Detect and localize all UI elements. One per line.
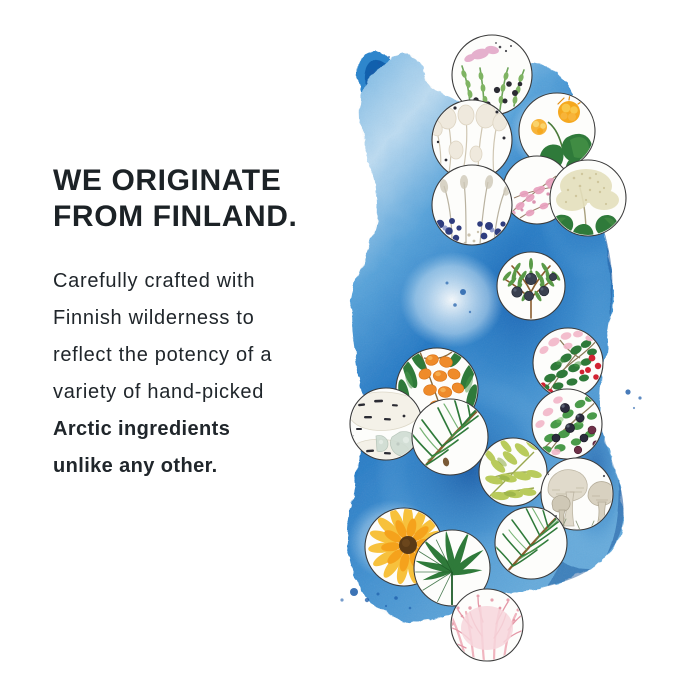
body-line-6: unlike any other. [53,448,353,485]
body-line-5: Arctic ingredients [53,411,353,448]
body-line-4: variety of hand-picked [53,374,353,411]
watercolor-map-of-finland [330,14,679,674]
body-line-1: Carefully crafted with [53,263,353,300]
body-paragraph: Carefully crafted with Finnish wildernes… [53,263,353,485]
page-title: WE ORIGINATE FROM FINLAND. [53,163,353,235]
headline-line-2: FROM FINLAND. [53,199,353,235]
poster-canvas: WE ORIGINATE FROM FINLAND. Carefully cra… [0,0,679,679]
body-line-3: reflect the potency of a [53,337,353,374]
circle-juniper [497,252,565,320]
body-line-2: Finnish wilderness to [53,300,353,337]
circle-bilberry-crowberry [532,389,602,459]
copy-block: WE ORIGINATE FROM FINLAND. Carefully cra… [53,163,353,485]
headline-line-1: WE ORIGINATE [53,163,353,199]
circle-lingonberry [533,328,603,398]
